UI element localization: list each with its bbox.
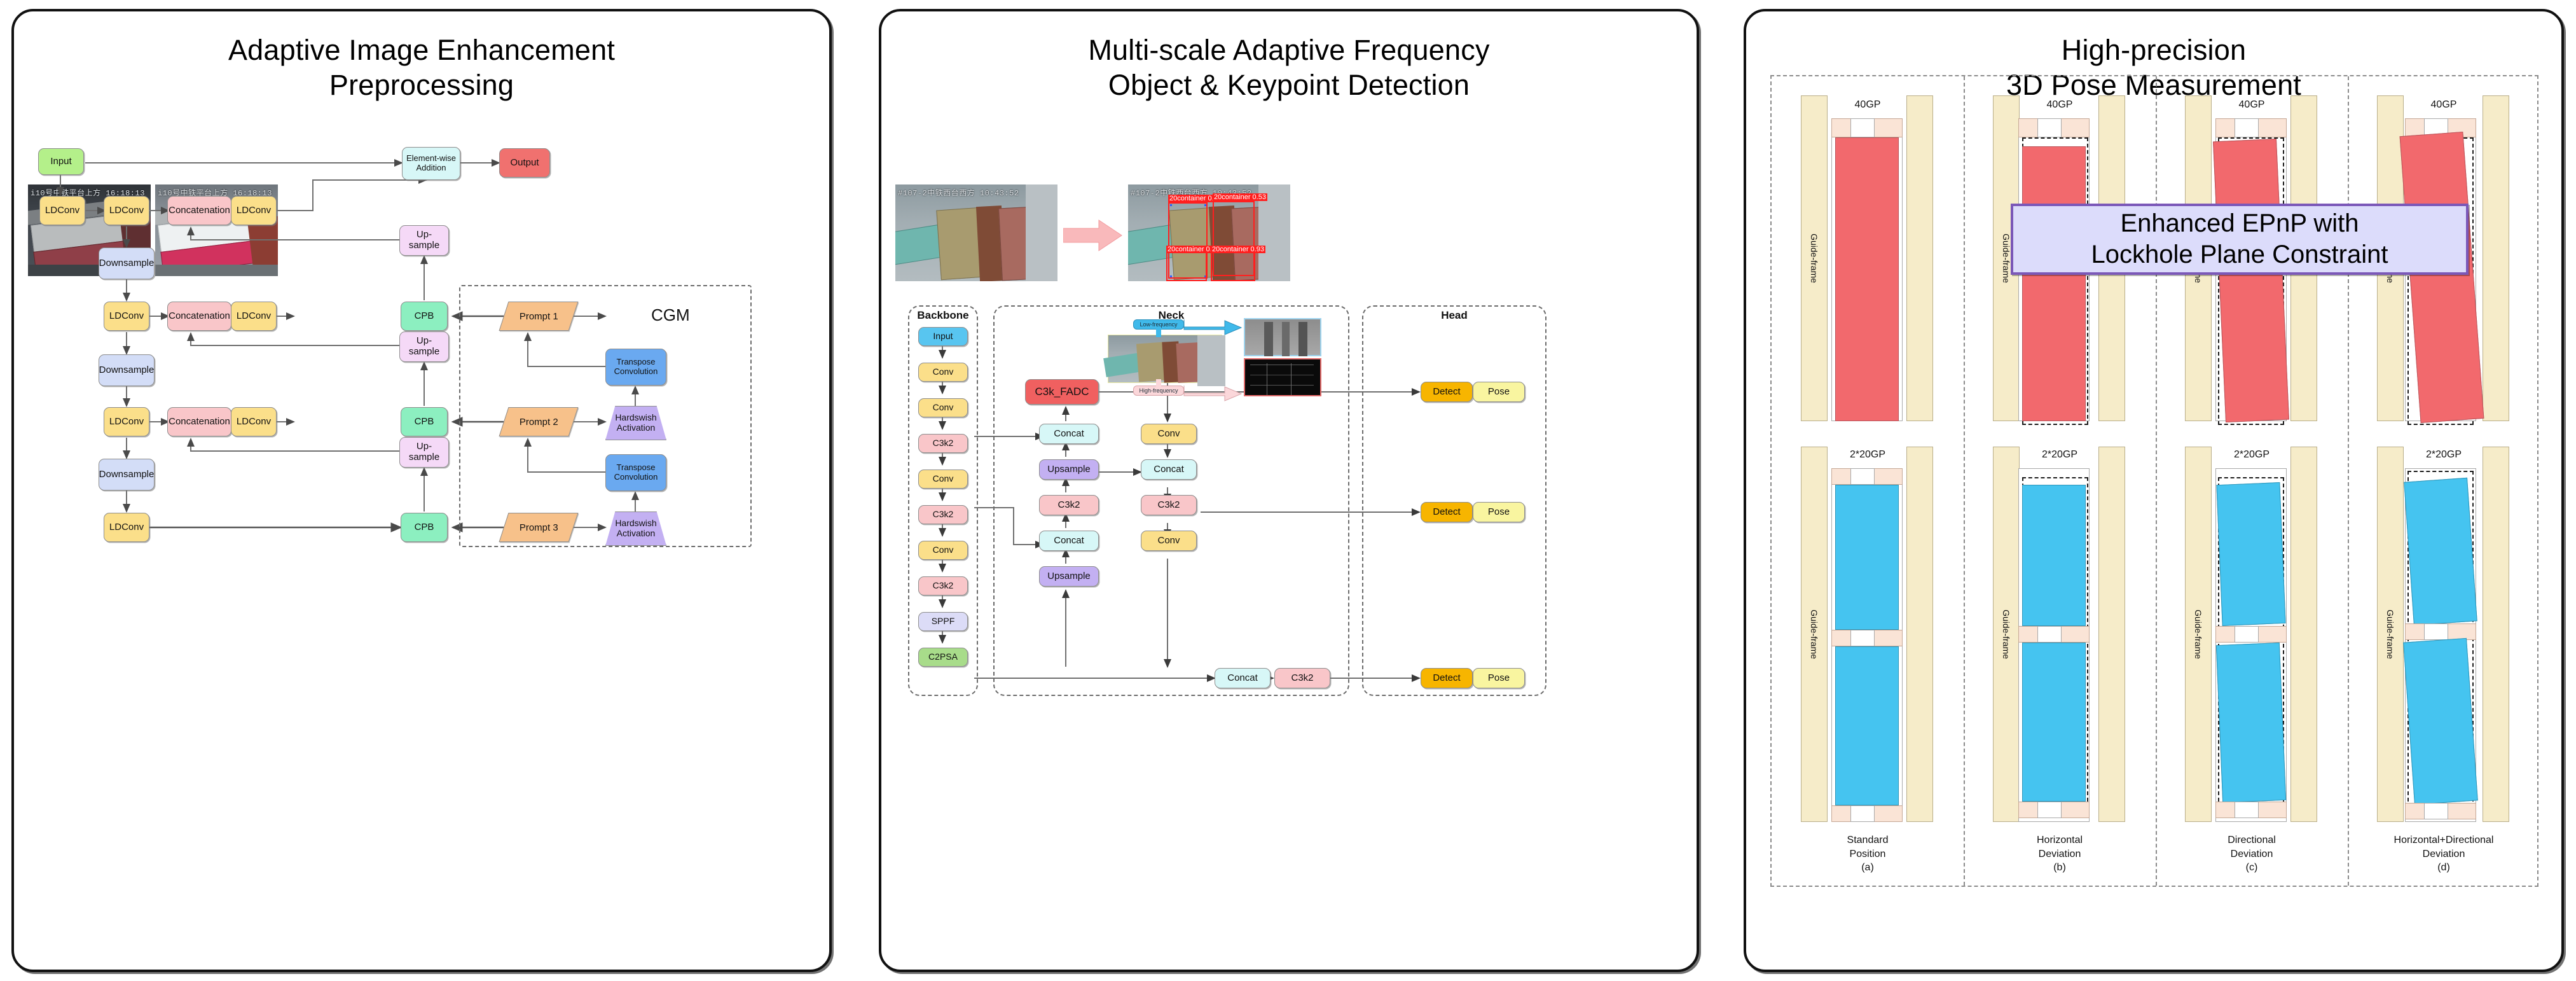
node-concat-2: Concatenation	[167, 302, 231, 331]
backbone-node-conv-2: Conv	[918, 398, 968, 417]
head-pose-1: Pose	[1473, 382, 1525, 402]
node-cpb-3: CPB	[401, 513, 448, 542]
guide-frame-text: Guide-frame	[1809, 233, 1819, 283]
detection-label-4: 20container 0.93	[1211, 246, 1265, 253]
node-downsample-1: Downsample	[99, 247, 155, 279]
low-frequency-image	[1244, 318, 1321, 356]
container-20gp-c-lower	[2216, 643, 2286, 803]
node-concat-3: Concatenation	[167, 407, 231, 436]
scene-column-a: 40GP Guide-frame 2*20GP Guide-frame	[1772, 76, 1964, 886]
node-prompt-1: Prompt 1	[499, 302, 579, 331]
backbone-node-input: Input	[918, 327, 968, 346]
node-upsample-1: Up-sample	[399, 225, 449, 256]
container-20gp-b-lower	[2022, 643, 2086, 802]
container-20gp-a-lower	[1835, 646, 1899, 805]
backbone-group-label: Backbone	[908, 309, 978, 322]
node-ldconv-7: LDConv	[231, 407, 277, 436]
neck-node-concat-2: Concat	[1039, 531, 1099, 551]
container-20gp-a-upper	[1835, 485, 1899, 630]
high-frequency-pill: High-frequency	[1133, 386, 1184, 396]
backbone-node-c2psa: C2PSA	[918, 648, 968, 667]
node-ldconv-8: LDConv	[104, 513, 149, 542]
node-concat-1: Concatenation	[167, 196, 231, 225]
node-cpb-1: CPB	[401, 302, 448, 331]
neck-node-c3k-fadc: C3k_FADC	[1025, 379, 1099, 405]
guide-frame-d1-right	[2483, 95, 2509, 421]
backbone-node-sppf: SPPF	[918, 612, 968, 631]
node-ldconv-3: LDConv	[231, 196, 277, 225]
node-elementwise-addition: Element-wise Addition	[402, 147, 460, 180]
scene-column-d: 40GP Guide-frame 2*20GP Guide-frame	[2348, 76, 2540, 886]
head-detect-2: Detect	[1421, 502, 1473, 522]
node-hardswish-1: Hardswish Activation	[605, 406, 666, 440]
node-transpose-conv-2: Transpose Convolution	[605, 454, 666, 491]
node-input: Input	[38, 148, 84, 175]
neck-node-conv-1: Conv	[1141, 424, 1197, 444]
node-ldconv-5: LDConv	[231, 302, 277, 331]
node-downsample-2: Downsample	[99, 354, 155, 386]
container-20gp-c-upper	[2216, 482, 2285, 626]
backbone-node-conv-1: Conv	[918, 363, 968, 382]
photo-detection-output: #107-2中铁西台西方 10:43:52 20container 0.83 2…	[1128, 184, 1290, 281]
container-40gp-a	[1835, 137, 1899, 421]
detection-box-4	[1211, 251, 1255, 281]
panel-1-title: Adaptive Image Enhancement Preprocessing	[14, 33, 829, 103]
neck-node-c3k2-3: C3k2	[1274, 668, 1330, 688]
node-output: Output	[499, 148, 550, 177]
node-downsample-3: Downsample	[99, 459, 155, 490]
detection-label-2: 20container 0.53	[1213, 193, 1267, 201]
scene-column-b: 40GP Guide-frame 2*20GP Guide-frame	[1964, 76, 2156, 886]
node-prompt-3: Prompt 3	[499, 513, 579, 542]
scene-sublabel-a: Standard Position (a)	[1772, 833, 1964, 875]
container-20gp-d-upper	[2404, 478, 2477, 625]
backbone-node-conv-4: Conv	[918, 541, 968, 560]
epnp-callout: Enhanced EPnP with Lockhole Plane Constr…	[2011, 204, 2469, 275]
container-40gp-c	[2213, 139, 2289, 422]
neck-node-conv-2: Conv	[1141, 531, 1197, 551]
node-ldconv-2: LDConv	[104, 196, 149, 225]
guide-frame-b2-left: Guide-frame	[1993, 447, 2020, 822]
guide-frame-d2-left: Guide-frame	[2377, 447, 2404, 822]
cgm-label: CGM	[651, 305, 690, 325]
panel-adaptive-image-enhancement: Adaptive Image Enhancement Preprocessing…	[11, 9, 832, 972]
head-detect-3: Detect	[1421, 668, 1473, 688]
scene-sublabel-d: Horizontal+Directional Deviation (d)	[2348, 833, 2540, 875]
low-frequency-pill: Low-frequency	[1133, 319, 1184, 330]
guide-frame-d2-right	[2483, 447, 2509, 822]
head-detect-1: Detect	[1421, 382, 1473, 402]
figure-root: Adaptive Image Enhancement Preprocessing…	[0, 0, 2576, 981]
head-group-label: Head	[1362, 309, 1546, 322]
neck-node-c3k2-1: C3k2	[1039, 495, 1099, 515]
scene-sublabel-b: Horizontal Deviation (b)	[1964, 833, 2156, 875]
guide-frame-a1-left: Guide-frame	[1801, 95, 1828, 421]
panel-2-title: Multi-scale Adaptive Frequency Object & …	[881, 33, 1697, 103]
neck-node-concat-1: Concat	[1039, 424, 1099, 444]
head-pose-3: Pose	[1473, 668, 1525, 688]
neck-node-c3k2-2: C3k2	[1141, 495, 1197, 515]
frequency-source-image	[1108, 335, 1222, 383]
node-hardswish-2: Hardswish Activation	[605, 511, 666, 546]
guide-frame-a1-right	[1906, 95, 1933, 421]
node-cpb-2: CPB	[401, 407, 448, 436]
detection-box-3	[1166, 251, 1207, 281]
scene-column-c: 40GP Guide-frame 2*20GP Guide-frame	[2156, 76, 2348, 886]
guide-frame-c2-left: Guide-frame	[2185, 447, 2212, 822]
container-20gp-d-lower	[2403, 638, 2478, 805]
photo-input-timestamp: #107-2中铁西台西方 10:43:52	[898, 187, 1019, 198]
head-group	[1362, 305, 1546, 696]
pose-scene: 40GP Guide-frame 2*20GP Guide-frame	[1770, 75, 2538, 887]
backbone-node-conv-3: Conv	[918, 470, 968, 489]
neck-node-upsample-2: Upsample	[1039, 566, 1099, 587]
node-ldconv-4: LDConv	[104, 302, 149, 331]
guide-frame-a2-left: Guide-frame	[1801, 447, 1828, 822]
guide-frame-b2-right	[2098, 447, 2125, 822]
node-prompt-2: Prompt 2	[499, 407, 579, 436]
neck-node-concat-3: Concat	[1141, 459, 1197, 480]
scene-sublabel-c: Directional Deviation (c)	[2156, 833, 2348, 875]
panel-high-precision-3d-pose: High-precision 3D Pose Measurement 40GP …	[1744, 9, 2564, 972]
neck-node-concat-4: Concat	[1215, 668, 1271, 688]
photo-detection-input: #107-2中铁西台西方 10:43:52	[895, 184, 1057, 281]
container-40gp-b	[2022, 146, 2086, 421]
node-transpose-conv-1: Transpose Convolution	[605, 349, 666, 386]
panel-multiscale-adaptive-frequency: Multi-scale Adaptive Frequency Object & …	[879, 9, 1699, 972]
backbone-node-c3k2-1: C3k2	[918, 434, 968, 453]
head-pose-2: Pose	[1473, 502, 1525, 522]
node-upsample-2: Up-sample	[399, 331, 449, 362]
guide-frame-a2-right	[1906, 447, 1933, 822]
container-20gp-b-upper	[2022, 485, 2086, 626]
neck-node-upsample-1: Upsample	[1039, 459, 1099, 480]
backbone-node-c3k2-2: C3k2	[918, 505, 968, 524]
backbone-node-c3k2-3: C3k2	[918, 576, 968, 595]
node-upsample-3: Up-sample	[399, 437, 449, 468]
detect-arrow-icon	[1063, 219, 1123, 252]
high-frequency-image	[1244, 358, 1321, 396]
guide-frame-c2-right	[2290, 447, 2317, 822]
node-ldconv-1: LDConv	[39, 196, 85, 225]
node-ldconv-6: LDConv	[104, 407, 149, 436]
